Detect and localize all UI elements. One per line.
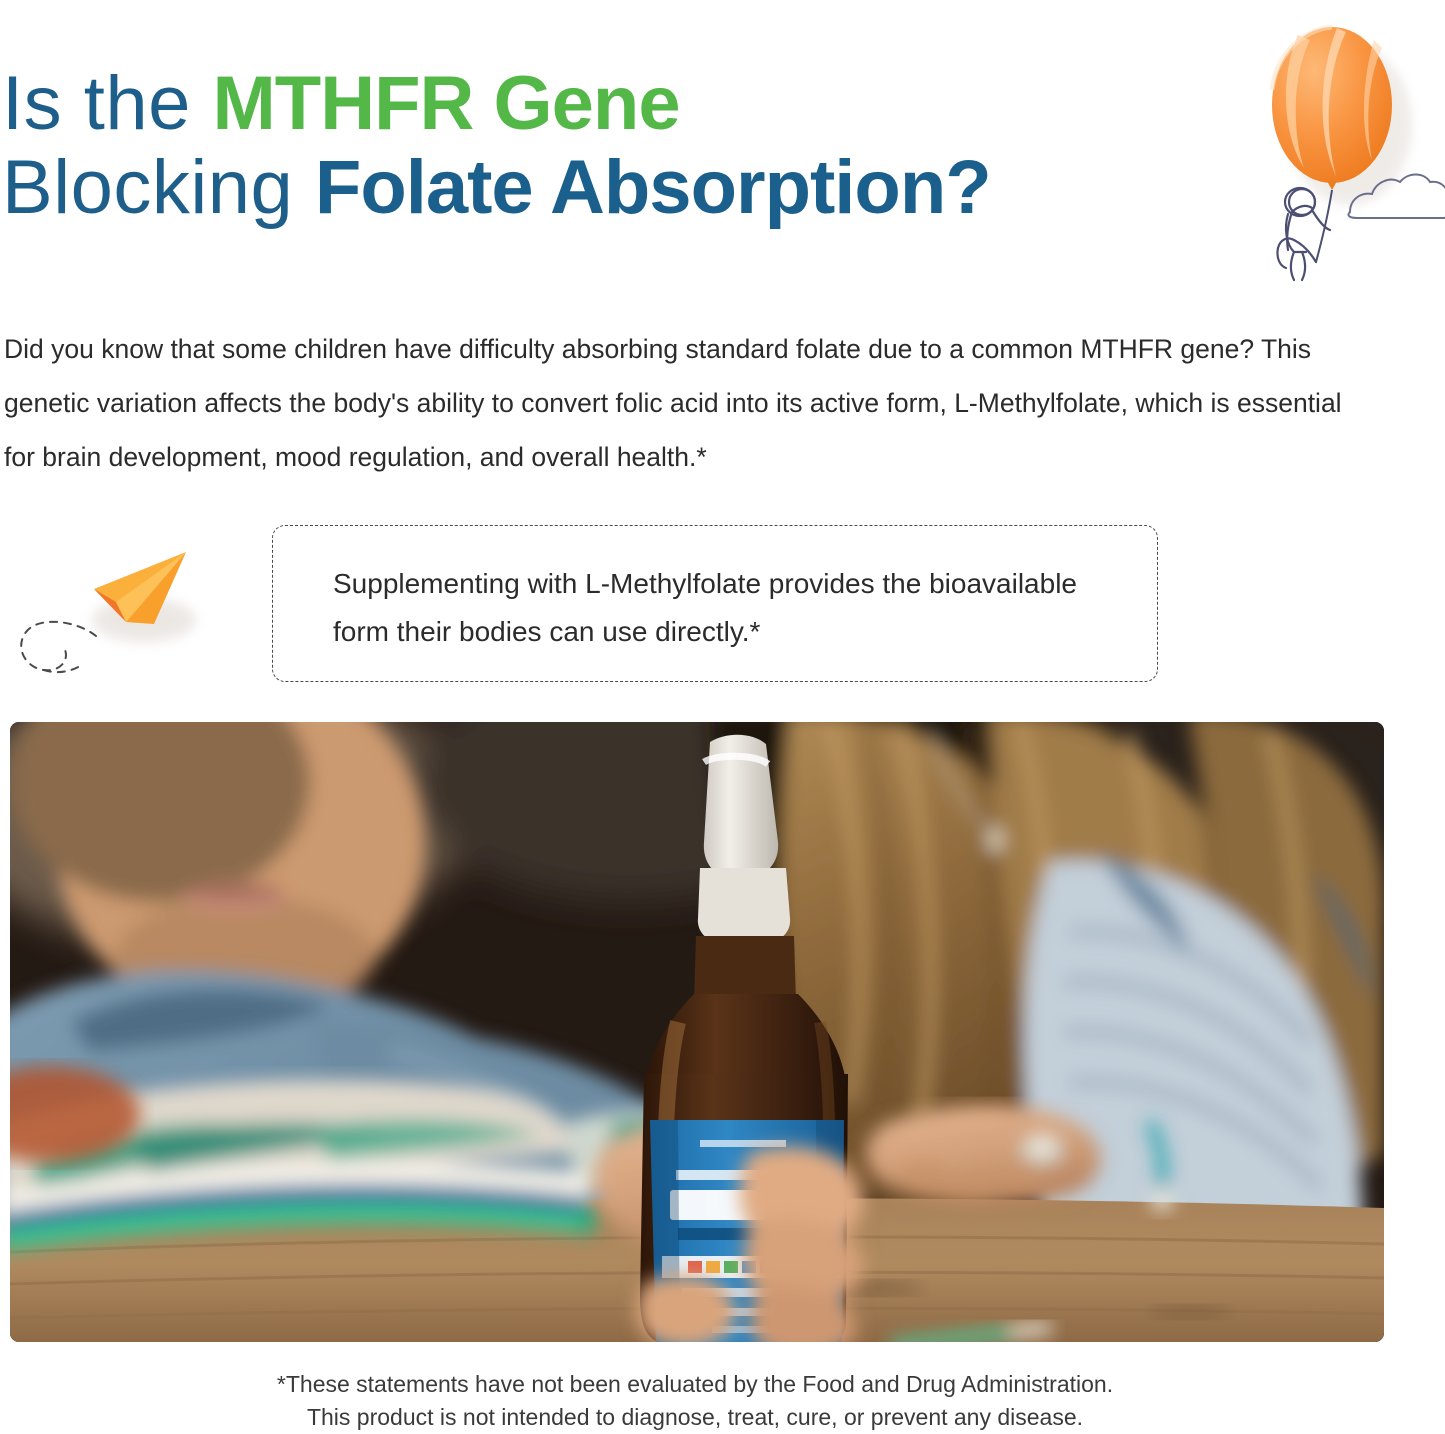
promo-page: Is the MTHFR Gene Blocking Folate Absorp… — [0, 0, 1445, 1434]
disclaimer-line-1: *These statements have not been evaluate… — [0, 1368, 1390, 1401]
fda-disclaimer: *These statements have not been evaluate… — [0, 1368, 1390, 1434]
intro-paragraph: Did you know that some children have dif… — [4, 322, 1364, 484]
stick-figure-icon — [1277, 188, 1330, 280]
headline-line-1: Is the MTHFR Gene — [2, 62, 1222, 146]
page-title: Is the MTHFR Gene Blocking Folate Absorp… — [2, 62, 1222, 229]
headline-line-1-accent: MTHFR Gene — [213, 61, 680, 146]
callout-text: Supplementing with L-Methylfolate provid… — [333, 560, 1123, 656]
callout-box: Supplementing with L-Methylfolate provid… — [272, 525, 1158, 682]
paper-plane-decoration — [4, 524, 254, 674]
balloon-decoration — [1232, 0, 1445, 290]
headline-line-1-lead: Is the — [2, 61, 213, 146]
headline-line-2-accent: Folate Absorption? — [315, 145, 991, 230]
headline-line-2-lead: Blocking — [2, 145, 315, 230]
dashed-trail-icon — [21, 622, 96, 672]
headline-line-2: Blocking Folate Absorption? — [2, 146, 1222, 230]
disclaimer-line-2: This product is not intended to diagnose… — [0, 1401, 1390, 1434]
lifestyle-photo — [10, 722, 1384, 1342]
